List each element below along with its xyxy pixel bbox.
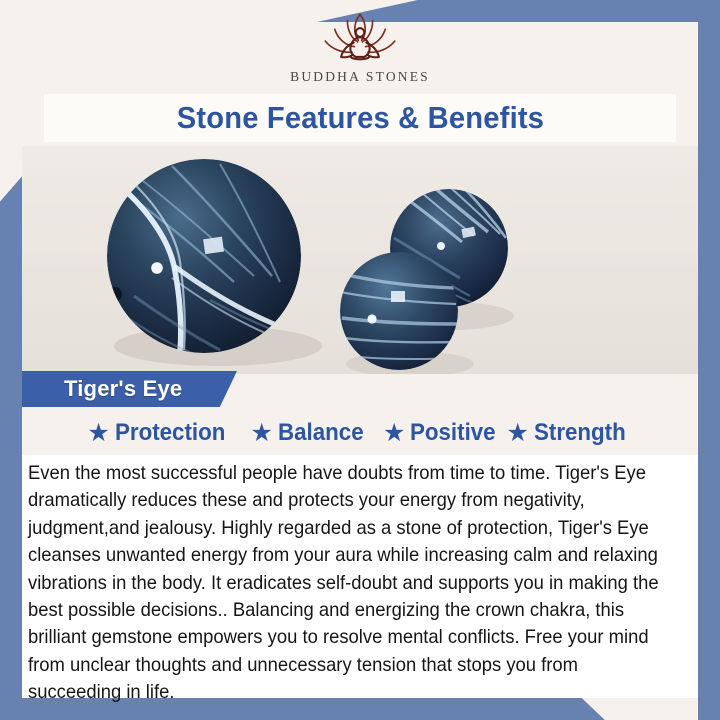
benefits-row: ★ Protection ★ Balance ★ Positive ★ Stre… xyxy=(22,415,698,451)
gemstone-photo xyxy=(22,146,698,374)
star-icon: ★ xyxy=(87,421,109,446)
lotus-meditation-icon xyxy=(312,8,408,68)
brand-name: BUDDHA STONES xyxy=(0,69,720,85)
product-info-poster: BUDDHA STONES Stone Features & Benefits xyxy=(0,0,720,720)
title-band: Stone Features & Benefits xyxy=(44,94,676,142)
brand-header: BUDDHA STONES xyxy=(0,8,720,85)
star-icon: ★ xyxy=(383,421,405,446)
benefit-item-protection: ★ Protection xyxy=(87,419,233,447)
star-icon: ★ xyxy=(251,421,273,446)
stone-name-tag: Tiger's Eye xyxy=(22,371,237,407)
description-panel: Even the most successful people have dou… xyxy=(22,455,698,698)
benefit-label: Positive xyxy=(410,419,496,447)
benefit-item-positive: ★ Positive xyxy=(383,419,502,447)
frame-right-accent xyxy=(698,0,720,720)
benefit-label: Strength xyxy=(534,419,626,447)
benefit-item-balance: ★ Balance xyxy=(251,419,370,447)
stone-name: Tiger's Eye xyxy=(64,376,182,402)
description-text: Even the most successful people have dou… xyxy=(28,460,665,707)
benefit-label: Balance xyxy=(278,419,364,447)
benefit-item-strength: ★ Strength xyxy=(506,419,632,447)
star-icon: ★ xyxy=(506,421,528,446)
benefit-label: Protection xyxy=(115,419,225,447)
page-title: Stone Features & Benefits xyxy=(176,100,543,136)
